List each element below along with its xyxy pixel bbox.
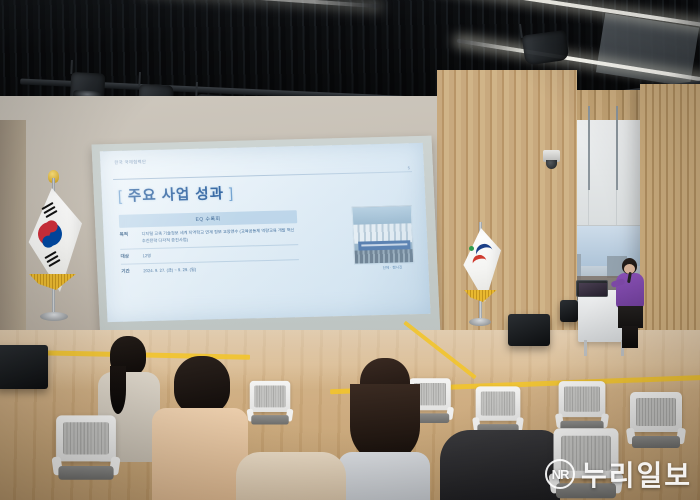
- audience-torso: [338, 452, 430, 500]
- audience-ponytail: [110, 366, 126, 414]
- watermark-text: 누리일보: [581, 454, 692, 494]
- chair-seat: [58, 466, 113, 480]
- chair-mesh: [564, 387, 600, 412]
- table-row-value: 2024. 9. 27. (금) ~ 9. 29. (일): [143, 267, 196, 275]
- slide-photo-caption: 단체 · 행사진: [383, 265, 403, 271]
- floor-speaker: [0, 345, 48, 389]
- chair-back: [476, 386, 521, 420]
- slide-page-number: 5: [408, 165, 410, 170]
- organization-flag: [459, 222, 503, 332]
- korean-national-flag: [22, 178, 84, 328]
- laptop-icon: [576, 280, 610, 299]
- photograph-scene: 한국 국제협력단 5 [ 주요 사업 성과 ] EQ 수록회 목적 디지털 교육…: [0, 0, 700, 500]
- audience-member: [440, 420, 560, 500]
- table-row-key: 대상: [120, 253, 142, 260]
- audience-member: [236, 452, 346, 500]
- slide-title: [ 주요 사업 성과 ]: [117, 182, 234, 206]
- window-mullion: [588, 106, 590, 190]
- watermark-logo-icon: NR: [545, 459, 575, 489]
- laptop-screen: [579, 283, 607, 296]
- audience-torso: [440, 430, 560, 500]
- flag-stand-base: [40, 312, 68, 321]
- projector-body: [522, 30, 570, 66]
- chair-mesh: [636, 398, 676, 426]
- slide-info-table: EQ 수록회 목적 디지털 교육 기술정보 세계 지역학교 연계 정보 교양연수…: [119, 210, 300, 278]
- table-row-key: 목적: [119, 231, 142, 245]
- emblem-green-dot-icon: [469, 246, 474, 251]
- floor-speaker: [508, 314, 550, 346]
- floor-speaker: [560, 300, 578, 322]
- audience-torso: [152, 408, 248, 500]
- chair-mesh: [481, 392, 515, 416]
- audience-torso: [236, 452, 346, 500]
- chair: [56, 415, 116, 486]
- chair-back: [559, 381, 606, 417]
- window-mullion: [616, 106, 618, 190]
- watermark: NR 누리일보: [545, 454, 692, 494]
- slide-title-bracket-close: ]: [229, 186, 235, 202]
- presenter: [613, 258, 647, 346]
- table-row-value: 디지털 교육 기술정보 세계 지역학교 연계 정보 교양연수 (교육공동체 역량…: [141, 227, 298, 245]
- audience-member: [152, 356, 248, 500]
- lectern-leg: [584, 340, 587, 356]
- table-row-value: 12명: [142, 253, 151, 260]
- slide-photo-crowd: [355, 249, 414, 264]
- presenter-skirt: [618, 306, 643, 328]
- presentation-slide: 한국 국제협력단 5 [ 주요 사업 성과 ] EQ 수록회 목적 디지털 교육…: [100, 143, 431, 322]
- flag-fringe: [462, 290, 498, 302]
- audience-head: [174, 356, 230, 414]
- chair: [630, 392, 682, 454]
- chair-seat: [632, 436, 680, 448]
- slide-header-label: 한국 국제협력단: [114, 159, 146, 166]
- laptop-lid: [576, 280, 608, 297]
- audience-hair: [350, 384, 420, 462]
- slide-title-text: 주요 사업 성과: [128, 186, 225, 204]
- security-camera-icon: [543, 150, 560, 162]
- audience-member: [336, 358, 432, 500]
- slide-photo: [352, 205, 415, 265]
- table-row-key: 기간: [121, 268, 143, 275]
- chair-mesh: [63, 422, 109, 454]
- presenter-legs: [622, 326, 638, 348]
- chair-back: [250, 381, 291, 412]
- slide-divider: [113, 171, 412, 180]
- slide-title-bracket-open: [: [118, 189, 124, 205]
- chair-seat: [251, 415, 288, 424]
- chair-back: [630, 392, 682, 432]
- flag-stand-base: [469, 318, 491, 326]
- flag-fringe: [26, 274, 78, 290]
- chair-back: [56, 415, 116, 461]
- chair-mesh: [254, 386, 285, 408]
- projection-screen: 한국 국제협력단 5 [ 주요 사업 성과 ] EQ 수록회 목적 디지털 교육…: [91, 136, 440, 345]
- chair: [250, 381, 291, 429]
